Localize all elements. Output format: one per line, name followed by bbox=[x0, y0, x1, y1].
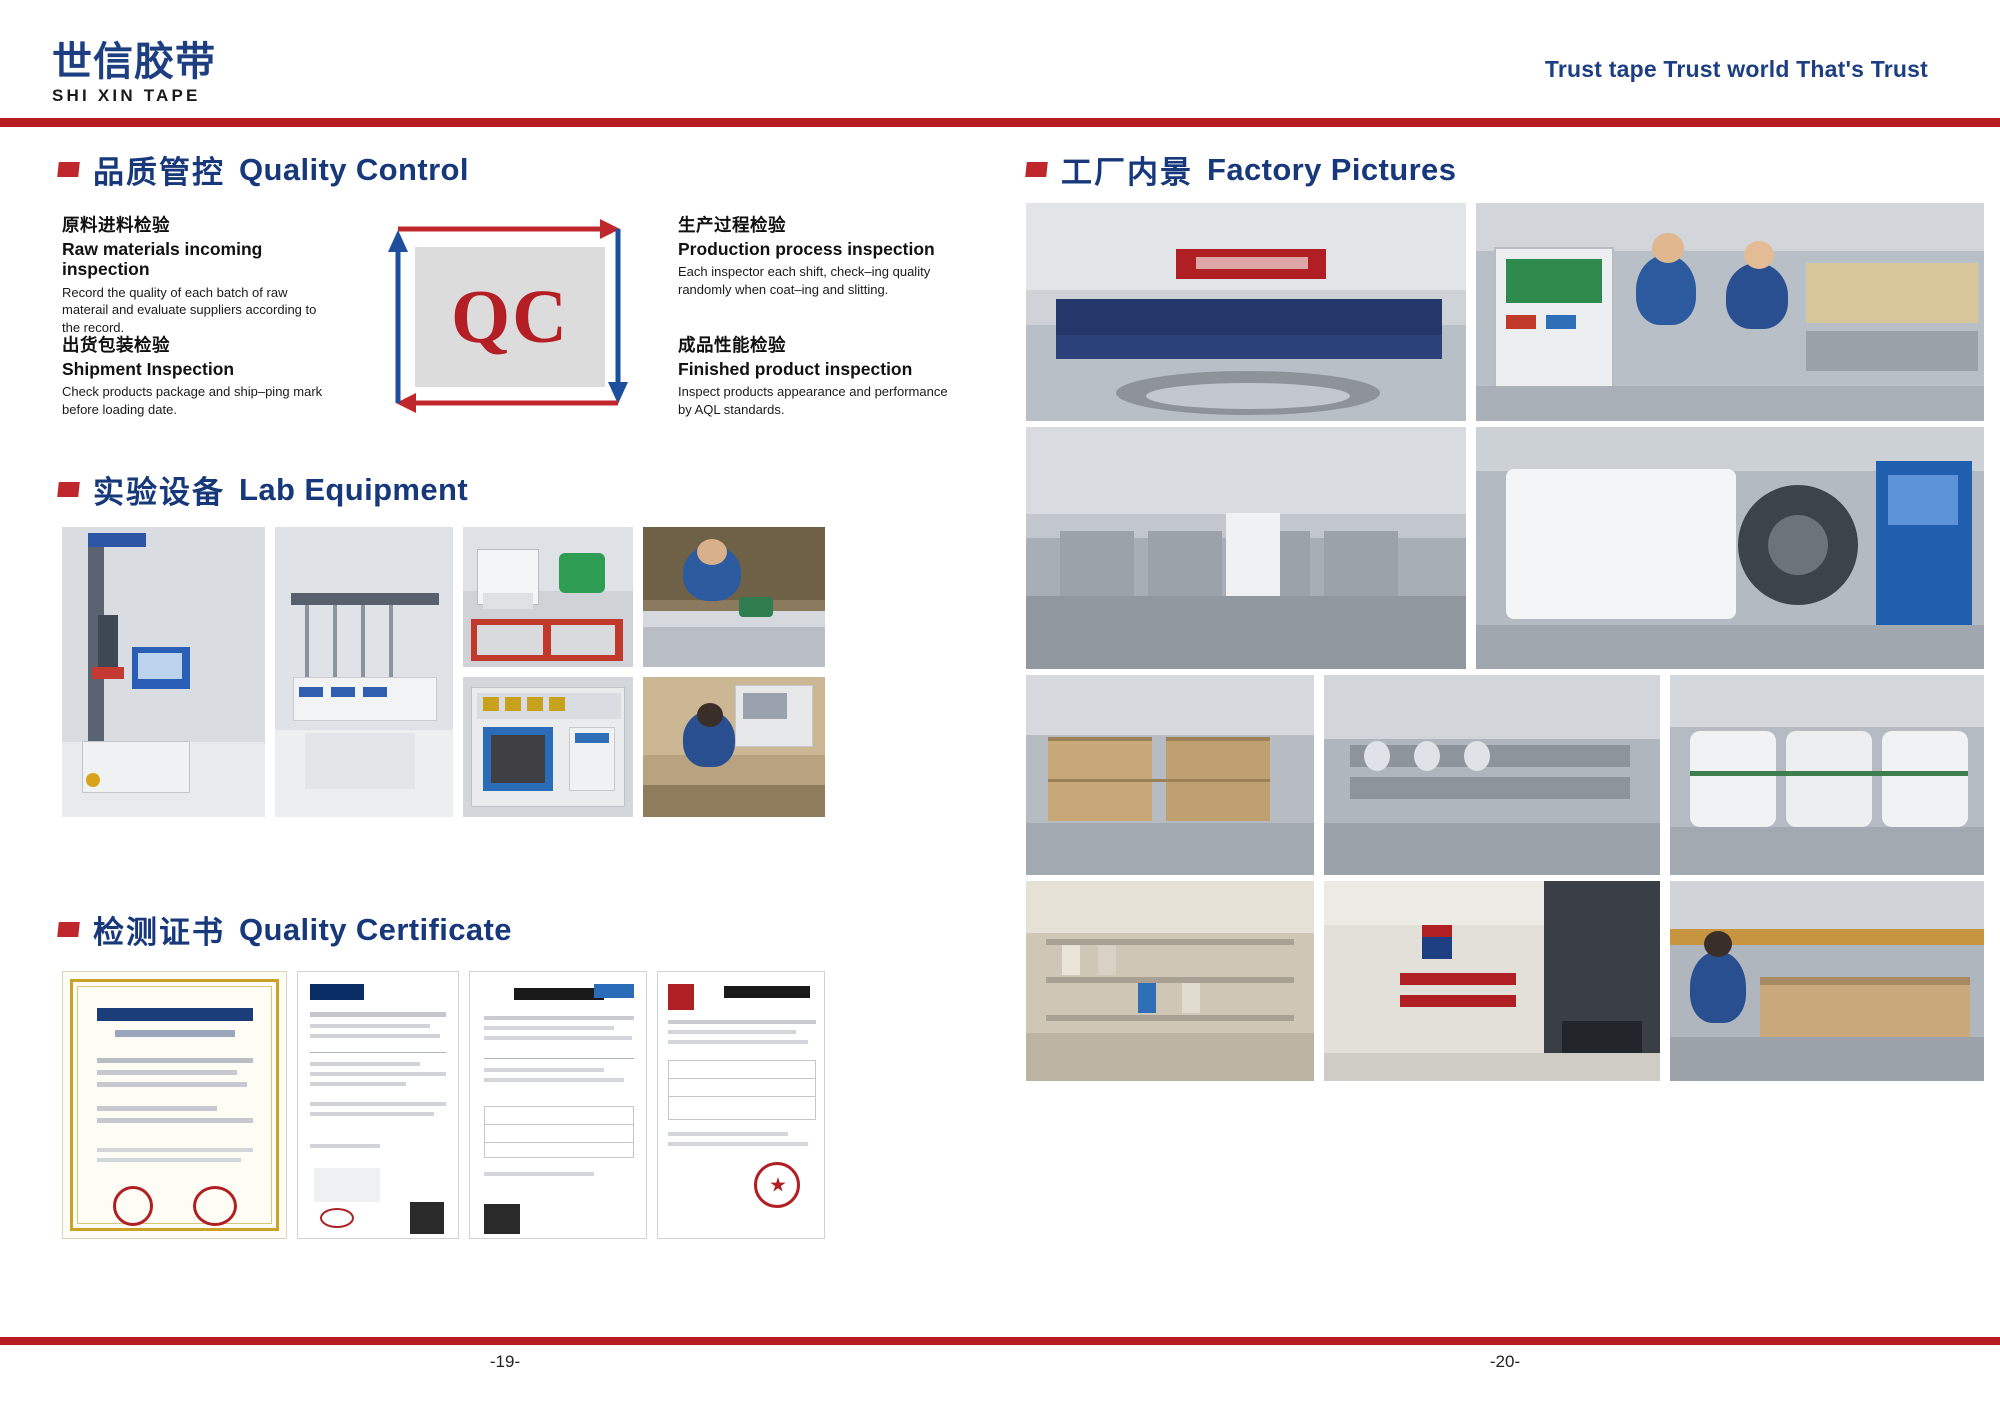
lab-image-tensile-testing-machine bbox=[62, 527, 265, 817]
page-gutter-divider bbox=[1004, 127, 1006, 1337]
certificate-image-sgs-test-report bbox=[297, 971, 459, 1239]
right-page: 工厂内景 Factory Pictures bbox=[1010, 127, 2000, 1347]
qc-block-cn: 生产过程检验 bbox=[678, 215, 953, 238]
certificate-image-quality-management-system bbox=[62, 971, 287, 1239]
qc-block-desc: Each inspector each shift, check–ing qua… bbox=[678, 263, 953, 298]
qc-block-en: Finished product inspection bbox=[678, 359, 953, 380]
factory-image-showroom-shelves bbox=[1026, 881, 1314, 1081]
section-title-en: Quality Certificate bbox=[239, 912, 512, 948]
qc-block-cn: 出货包装检验 bbox=[62, 335, 337, 358]
section-heading-lab-equipment: 实验设备 Lab Equipment bbox=[58, 467, 468, 512]
section-title-en: Lab Equipment bbox=[239, 472, 468, 508]
section-marker-icon bbox=[57, 482, 80, 497]
qc-cycle-diagram: QC bbox=[368, 207, 648, 432]
qc-block-shipment: 出货包装检验 Shipment Inspection Check product… bbox=[62, 335, 337, 418]
header-tagline: Trust tape Trust world That's Trust bbox=[1545, 56, 1928, 83]
qc-block-desc: Inspect products appearance and performa… bbox=[678, 383, 953, 418]
section-title-en: Factory Pictures bbox=[1207, 152, 1456, 188]
section-title-en: Quality Control bbox=[239, 152, 469, 188]
page-body: 品质管控 Quality Control 原料进料检验 Raw material… bbox=[0, 127, 2000, 1347]
page-number-right: -20- bbox=[1010, 1352, 2000, 1372]
qc-block-cn: 原料进料检验 bbox=[62, 215, 337, 238]
qc-block-en: Shipment Inspection bbox=[62, 359, 337, 380]
qc-block-desc: Check products package and ship–ping mar… bbox=[62, 383, 337, 418]
lab-image-precision-balance bbox=[463, 527, 633, 667]
qc-block-cn: 成品性能检验 bbox=[678, 335, 953, 358]
section-title-cn: 检测证书 bbox=[93, 907, 225, 952]
section-marker-icon bbox=[57, 922, 80, 937]
factory-image-warehouse-roll-racks bbox=[1324, 675, 1660, 875]
quality-control-diagram-area: 原料进料检验 Raw materials incoming inspection… bbox=[0, 207, 1010, 437]
factory-image-jumbo-roll-coating-line bbox=[1476, 427, 1984, 669]
page-header: 世信胶带 SHI XIN TAPE Trust tape Trust world… bbox=[0, 0, 2000, 128]
section-heading-quality-certificate: 检测证书 Quality Certificate bbox=[58, 907, 512, 952]
section-heading-factory-pictures: 工厂内景 Factory Pictures bbox=[1026, 147, 1456, 192]
section-title-cn: 工厂内景 bbox=[1061, 147, 1193, 192]
qc-block-raw-materials: 原料进料检验 Raw materials incoming inspection… bbox=[62, 215, 337, 336]
section-title-cn: 实验设备 bbox=[93, 467, 225, 512]
brand-logo: 世信胶带 SHI XIN TAPE bbox=[52, 42, 216, 104]
section-marker-icon bbox=[57, 162, 80, 177]
qc-block-en: Raw materials incoming inspection bbox=[62, 239, 337, 280]
header-divider-rule bbox=[0, 118, 2000, 127]
section-heading-quality-control: 品质管控 Quality Control bbox=[58, 147, 469, 192]
lab-image-aging-oven bbox=[463, 677, 633, 817]
brand-logo-cn: 世信胶带 bbox=[52, 42, 216, 82]
factory-image-stacked-jumbo-rolls bbox=[1670, 675, 1984, 875]
page-number-left: -19- bbox=[0, 1352, 1010, 1372]
brand-logo-en: SHI XIN TAPE bbox=[52, 87, 216, 104]
qc-block-en: Production process inspection bbox=[678, 239, 953, 260]
factory-image-coating-machine-operators bbox=[1476, 203, 1984, 421]
certificate-image-test-report-grqt bbox=[469, 971, 647, 1239]
factory-image-group-photo bbox=[1026, 203, 1466, 421]
lab-image-worker-film-roll bbox=[643, 527, 825, 667]
qc-center-label: QC bbox=[415, 247, 605, 387]
lab-image-operator-workstation bbox=[643, 677, 825, 817]
section-title-cn: 品质管控 bbox=[93, 147, 225, 192]
section-marker-icon bbox=[1025, 162, 1048, 177]
footer-divider-rule bbox=[0, 1337, 2000, 1345]
factory-image-meeting-room-brand-wall bbox=[1324, 881, 1660, 1081]
factory-image-slitting-workshop-aisle bbox=[1026, 427, 1466, 669]
qc-block-desc: Record the quality of each batch of raw … bbox=[62, 284, 337, 336]
certificate-image-test-report-red-seal bbox=[657, 971, 825, 1239]
factory-image-worker-slitting-table bbox=[1670, 881, 1984, 1081]
factory-image-cartons-warehouse bbox=[1026, 675, 1314, 875]
qc-block-production-process: 生产过程检验 Production process inspection Eac… bbox=[678, 215, 953, 298]
lab-image-peel-tester bbox=[275, 527, 453, 817]
left-page: 品质管控 Quality Control 原料进料检验 Raw material… bbox=[0, 127, 1010, 1347]
qc-block-finished-product: 成品性能检验 Finished product inspection Inspe… bbox=[678, 335, 953, 418]
